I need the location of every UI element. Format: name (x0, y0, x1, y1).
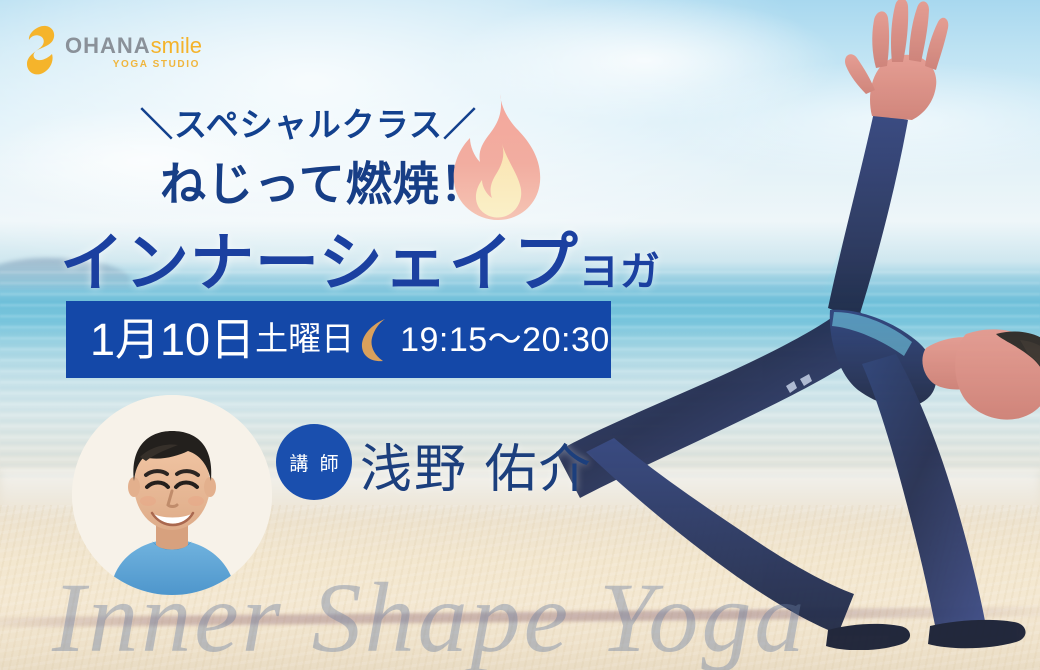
flame-icon (448, 92, 544, 222)
schedule-time: 19:15〜20:30 (400, 323, 610, 357)
logo-name-primary: OHANA (65, 33, 151, 58)
logo-name-secondary: smile (151, 33, 202, 58)
kicker-text: ＼スペシャルクラス／ (140, 98, 477, 146)
instructor-role-badge: 講 師 (276, 424, 352, 500)
schedule-banner: 1月10日 土曜日 19:15〜20:30 (66, 301, 611, 378)
crescent-moon-icon (358, 317, 392, 363)
logo-tagline: YOGA STUDIO (65, 60, 202, 70)
schedule-day-of-week: 土曜日 (255, 322, 354, 357)
poster-canvas: OHANAsmile YOGA STUDIO ＼スペシャルクラス／ ねじって燃焼… (0, 0, 1040, 670)
title-main: インナーシェイプ (60, 227, 579, 299)
title-suffix: ヨガ (579, 250, 661, 294)
schedule-date: 1月10日 (90, 317, 255, 362)
instructor-name: 浅野 佑介 (360, 427, 592, 502)
ohana-loop-mark-icon (26, 24, 56, 76)
page-title: インナーシェイプヨガ (60, 212, 661, 304)
instructor-portrait (72, 395, 272, 595)
headline-secondary: ねじって燃焼！ (160, 148, 487, 214)
instructor-role-label: 講 師 (286, 449, 341, 476)
studio-logo[interactable]: OHANAsmile YOGA STUDIO (26, 24, 202, 76)
